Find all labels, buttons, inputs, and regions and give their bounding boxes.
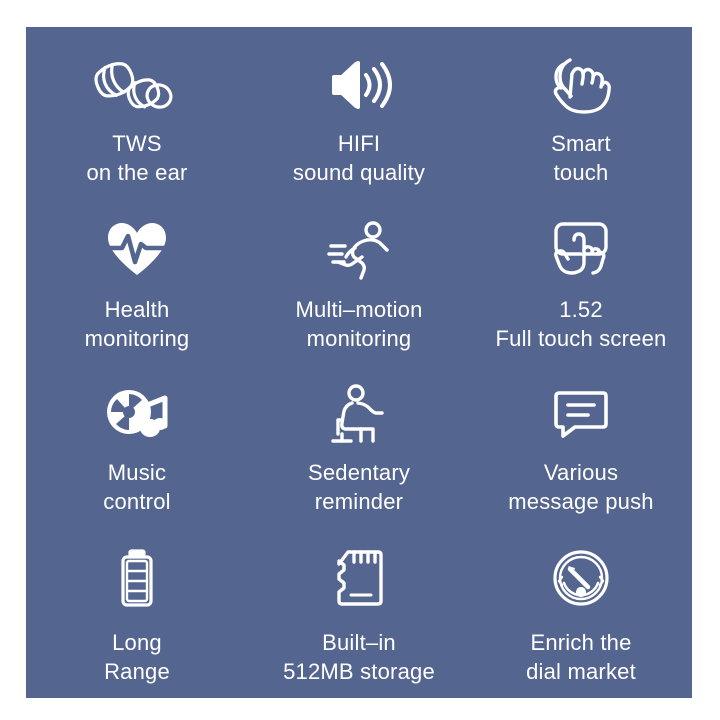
running-person-icon — [327, 217, 391, 281]
sd-card-icon — [334, 546, 384, 610]
tws-earbuds-icon — [89, 53, 185, 117]
feature-grid-panel: TWS on the ear HIFI sound quality — [26, 27, 692, 698]
feature-item-message-push[interactable]: Various message push — [470, 370, 692, 534]
feature-label: Health monitoring — [85, 295, 190, 353]
message-bubble-icon — [553, 382, 609, 446]
feature-label: Long Range — [104, 628, 170, 686]
feature-item-dial-market[interactable]: Enrich the dial market — [470, 534, 692, 698]
feature-item-smart-touch[interactable]: Smart touch — [470, 41, 692, 205]
feature-label: Enrich the dial market — [526, 628, 636, 686]
feature-item-music-control[interactable]: Music control — [26, 370, 248, 534]
feature-label: HIFI sound quality — [293, 129, 425, 187]
heart-pulse-icon — [104, 217, 170, 281]
sitting-person-icon — [330, 382, 388, 446]
feature-label: Music control — [103, 458, 170, 516]
tap-hand-icon — [548, 53, 614, 117]
feature-label: Built–in 512MB storage — [283, 628, 435, 686]
feature-label: Smart touch — [551, 129, 611, 187]
speaker-sound-icon — [328, 53, 390, 117]
feature-item-health[interactable]: Health monitoring — [26, 205, 248, 369]
feature-label: Sedentary reminder — [308, 458, 410, 516]
touch-screen-icon — [550, 217, 612, 281]
battery-icon — [117, 546, 157, 610]
feature-label: Various message push — [508, 458, 654, 516]
feature-label: 1.52 Full touch screen — [496, 295, 667, 353]
feature-item-long-range[interactable]: Long Range — [26, 534, 248, 698]
feature-item-hifi[interactable]: HIFI sound quality — [248, 41, 470, 205]
feature-label: Multi–motion monitoring — [295, 295, 422, 353]
feature-item-tws[interactable]: TWS on the ear — [26, 41, 248, 205]
feature-item-multi-motion[interactable]: Multi–motion monitoring — [248, 205, 470, 369]
feature-item-sedentary-reminder[interactable]: Sedentary reminder — [248, 370, 470, 534]
feature-label: TWS on the ear — [86, 129, 187, 187]
feature-item-builtin-storage[interactable]: Built–in 512MB storage — [248, 534, 470, 698]
watch-dial-icon — [552, 546, 610, 610]
music-note-record-icon — [105, 382, 169, 446]
feature-item-full-touch-screen[interactable]: 1.52 Full touch screen — [470, 205, 692, 369]
